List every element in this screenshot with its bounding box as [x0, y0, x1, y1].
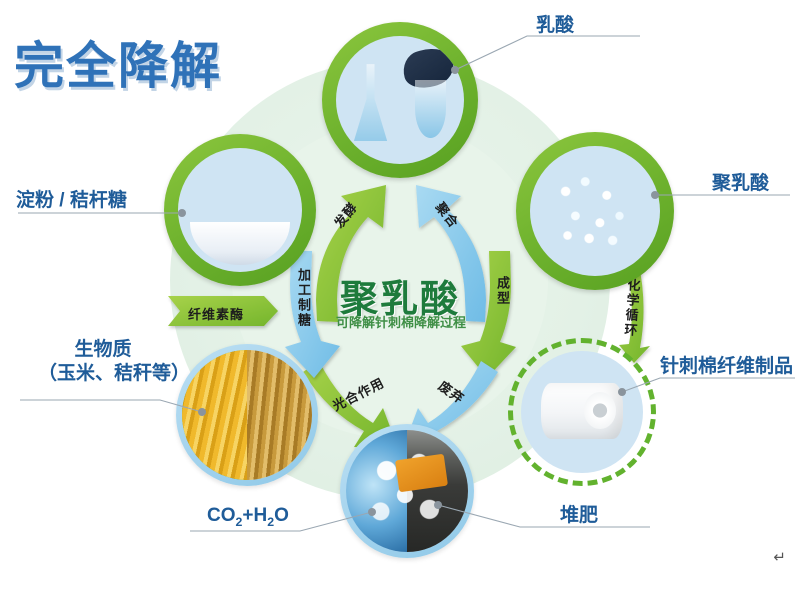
infographic-canvas: 完全降解 发酵	[0, 0, 800, 600]
photo-fabric-roll	[521, 351, 643, 473]
callout-starch-straw-sugar: 淀粉 / 秸杆糖	[16, 189, 127, 213]
photo-split	[182, 350, 312, 480]
callout-biomass-line2: （玉米、秸秆等）	[38, 362, 168, 386]
callout-co2-h2o: CO2+H2O	[207, 504, 289, 530]
center-subtitle: 可降解针刺棉降解过程	[305, 312, 497, 331]
photo-biomass-crops	[182, 350, 312, 480]
node-fabric-roll[interactable]	[508, 338, 656, 486]
photo-split	[346, 430, 468, 552]
photo-starch-powder	[178, 148, 302, 272]
callout-biomass: 生物质 （玉米、秸秆等）	[38, 338, 168, 386]
photo-pla-pellets	[530, 146, 660, 276]
photo-molecule	[346, 430, 407, 552]
text-cursor-artifact: ↵	[773, 548, 786, 566]
callout-lactic-acid: 乳酸	[536, 14, 574, 38]
co2-h2o-text-3: O	[274, 505, 289, 526]
photo-compost-molecule	[346, 430, 468, 552]
node-lab-glassware[interactable]	[322, 22, 478, 178]
callout-compost: 堆肥	[560, 504, 598, 528]
callout-biomass-line1: 生物质	[38, 338, 168, 362]
photo-lab-glassware	[336, 36, 464, 164]
co2-h2o-text-1: CO	[207, 505, 236, 526]
co2-h2o-text-2: +H	[242, 505, 267, 526]
node-starch-powder[interactable]	[164, 134, 316, 286]
node-pla-pellets[interactable]	[516, 132, 674, 290]
arrow-cellulase	[168, 296, 278, 326]
node-biomass-crops[interactable]	[176, 344, 318, 486]
node-compost-molecule[interactable]	[340, 424, 474, 558]
photo-straw	[247, 350, 312, 480]
callout-polylactic-acid: 聚乳酸	[712, 172, 769, 196]
photo-corn	[182, 350, 247, 480]
callout-needle-punched-fiber-product: 针刺棉纤维制品	[660, 355, 793, 379]
